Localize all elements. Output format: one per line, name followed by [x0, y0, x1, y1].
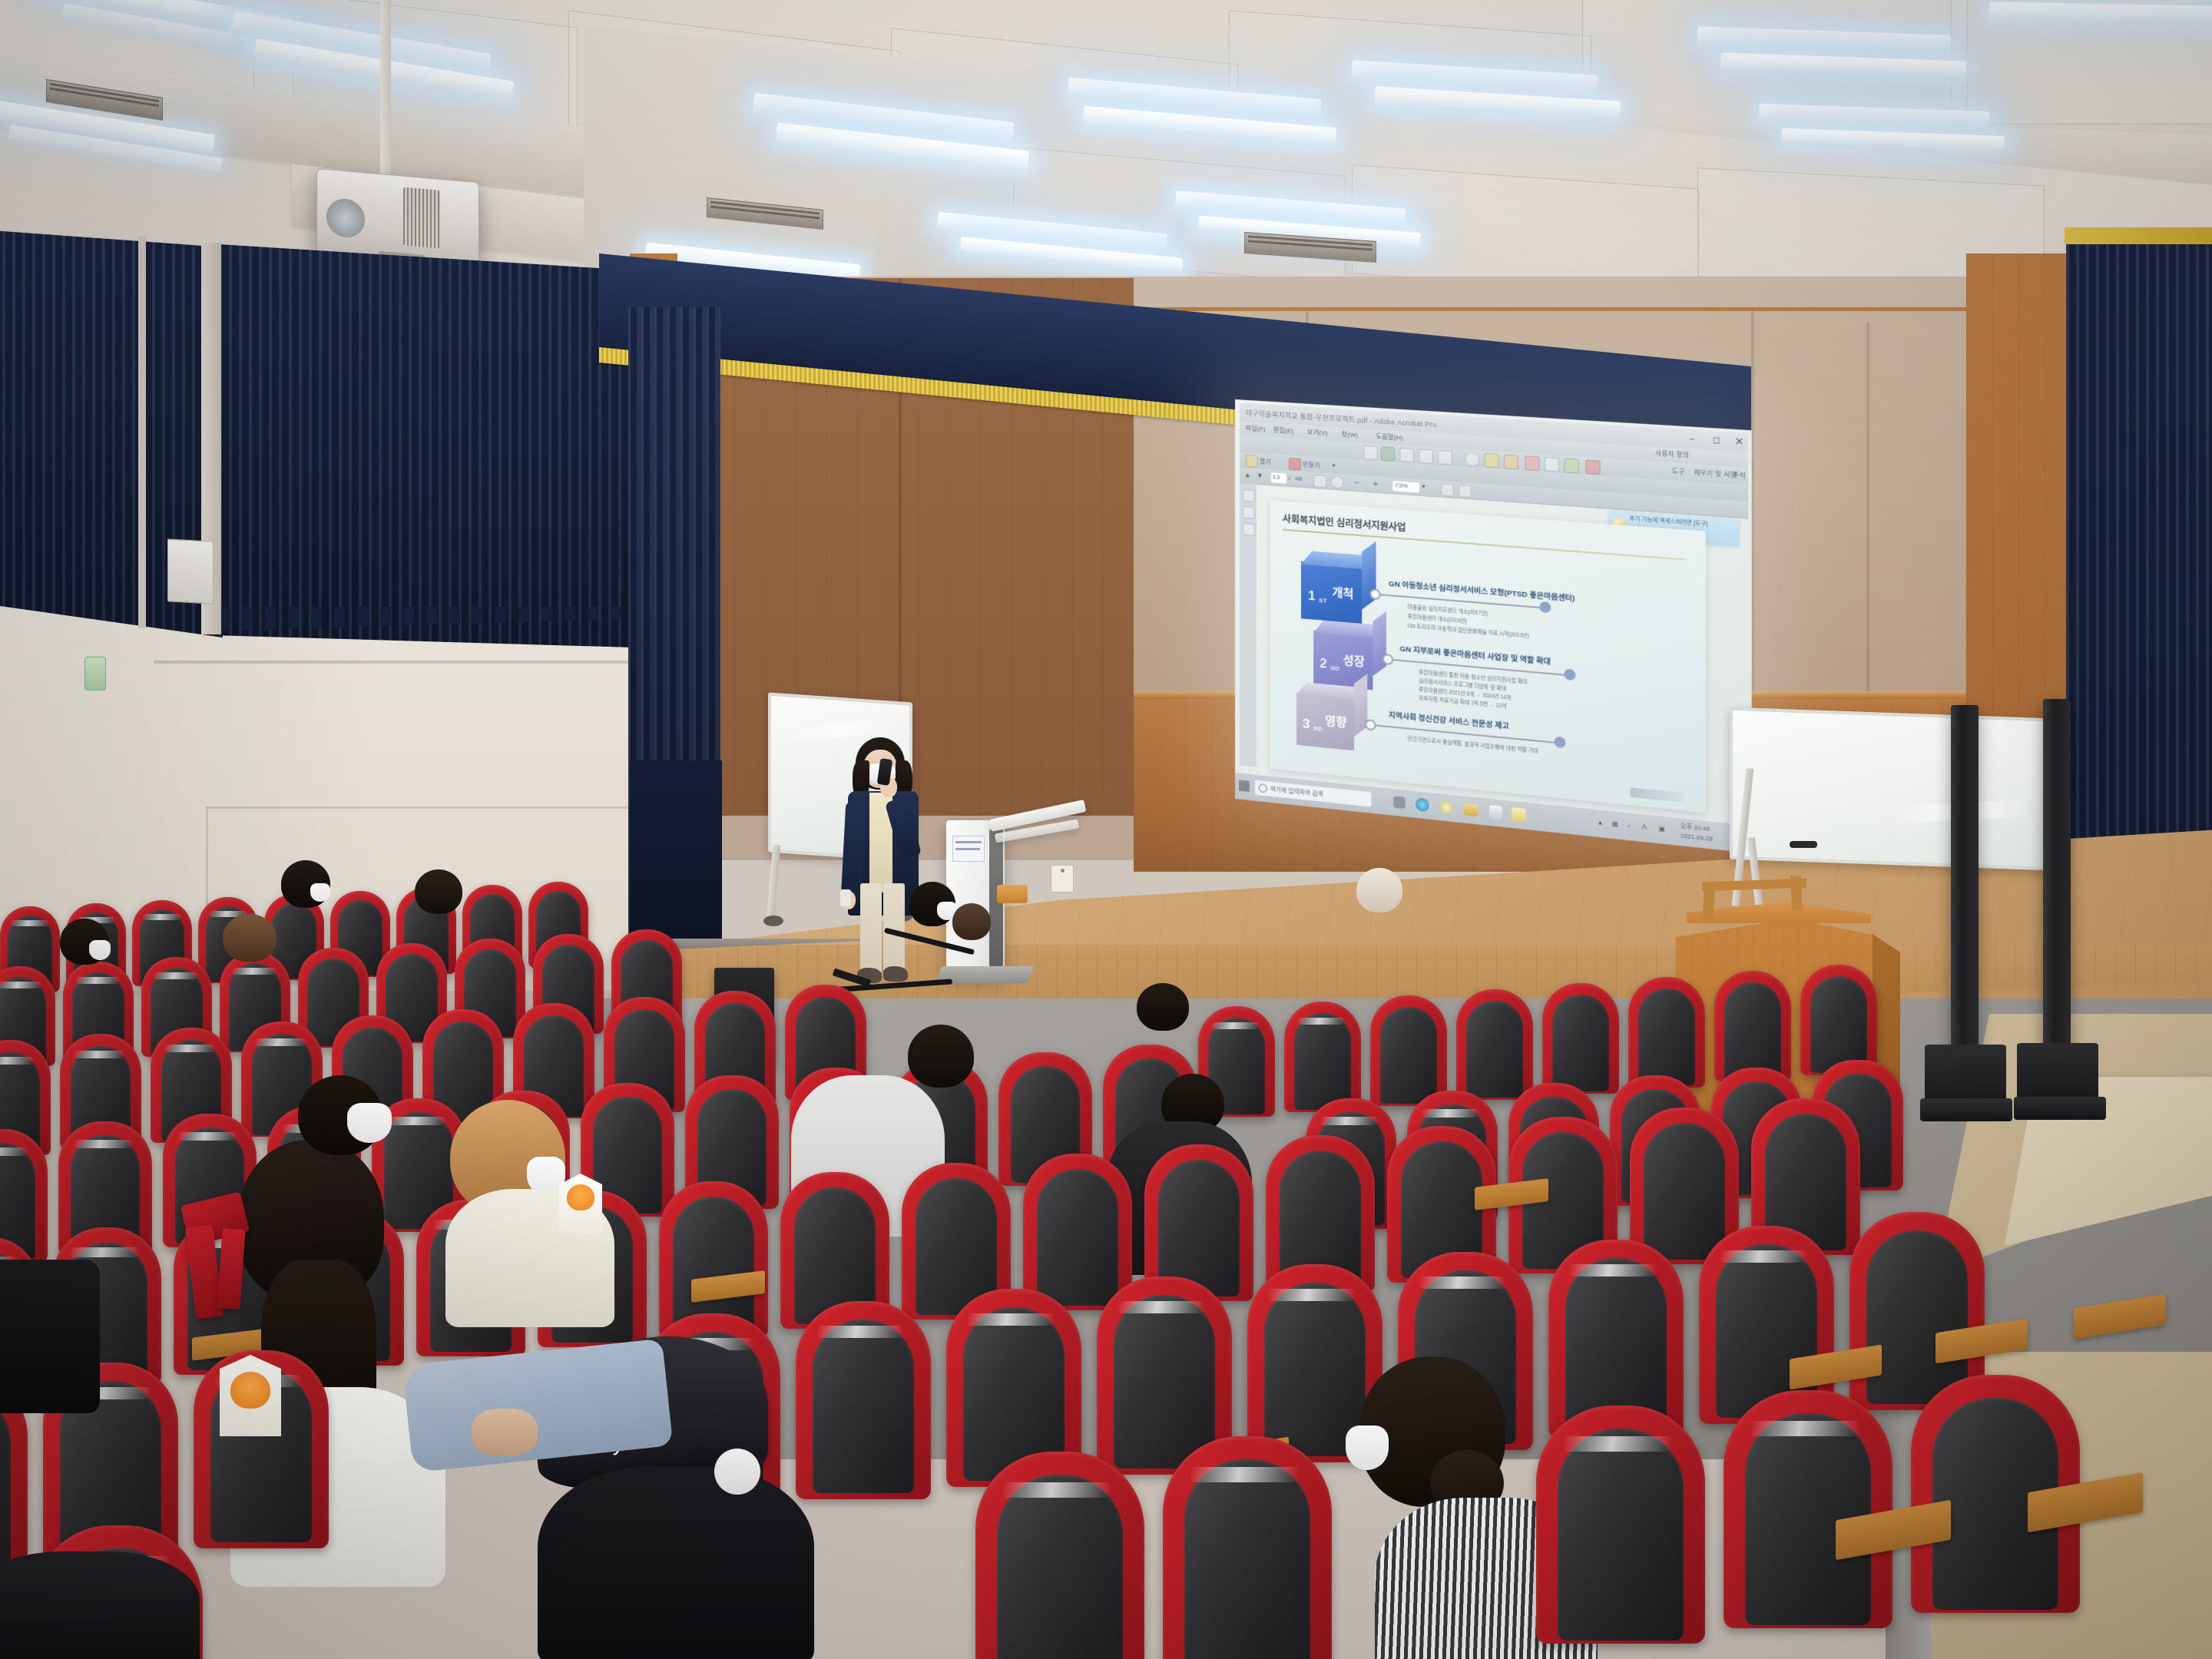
step-2-label: 성장	[1343, 651, 1365, 670]
edge-browser-icon[interactable]	[1416, 797, 1429, 812]
speaker-foot	[1920, 1098, 2012, 1121]
chevron-down-icon[interactable]: ▾	[1422, 483, 1425, 490]
face-mask	[347, 1103, 392, 1143]
audience-body	[0, 1260, 100, 1413]
menu-edit[interactable]: 편집(E)	[1273, 426, 1293, 435]
attachments-icon[interactable]	[1243, 523, 1255, 536]
wall-seam	[207, 806, 637, 809]
seat-tag-card	[559, 1174, 602, 1233]
tray-security-icon[interactable]: ▣	[1658, 825, 1664, 833]
menu-file[interactable]: 파일(F)	[1246, 424, 1266, 434]
task-view-icon[interactable]	[1393, 796, 1405, 809]
file-explorer-icon[interactable]	[1463, 803, 1478, 816]
audience-hand	[472, 1409, 538, 1456]
comment-icon[interactable]	[1504, 454, 1518, 469]
tower-speaker-right	[2043, 699, 2071, 1072]
tray-ime-icon[interactable]: A	[1642, 823, 1647, 831]
step-1-bullet-3: GN 트라우마 아동학대 집단문화예술 치료 시작(2013년)	[1408, 621, 1529, 640]
attach-icon[interactable]	[1585, 459, 1600, 475]
curtain-track-post	[138, 237, 146, 628]
maximize-button[interactable]: ◻	[1713, 435, 1720, 445]
face-mask	[714, 1449, 760, 1495]
connector-node	[1369, 588, 1380, 600]
step-cube-3: 3 RD 영향	[1296, 681, 1371, 755]
tray-chevron-icon[interactable]: ▲	[1597, 819, 1604, 826]
chevron-down-icon[interactable]: ▾	[1332, 462, 1335, 469]
presenter-trousers-left	[860, 883, 882, 972]
wall-speaker	[167, 538, 214, 604]
search-placeholder-text: 여기에 입력하여 검색	[1270, 785, 1323, 799]
tab-comment[interactable]: 주석	[1733, 471, 1746, 481]
wall-sensor	[84, 657, 106, 690]
clock-time[interactable]: 오후 10:49	[1681, 822, 1710, 834]
clock-date[interactable]: 2021-09-28	[1681, 832, 1713, 843]
audience-head	[908, 1025, 974, 1088]
navigation-pane[interactable]	[1240, 482, 1257, 767]
tab-fill-sign[interactable]: 채우기 및 서명	[1694, 468, 1736, 479]
sticky-note-icon[interactable]	[1485, 453, 1499, 469]
wall-outlet	[1051, 865, 1074, 892]
email-icon[interactable]	[1438, 450, 1452, 465]
step-1-label: 개척	[1332, 584, 1353, 602]
step-3-bullet-1: 민간기관으로서 중심역할, 효과적 사업수행에 대한 역할 기대	[1408, 734, 1538, 755]
tray-network-icon[interactable]: ▦	[1612, 820, 1618, 828]
create-button[interactable]: 만들기	[1303, 460, 1320, 470]
projected-desktop: 대구미술복지학교 통합-우천프로젝트.pdf - Adobe Acrobat P…	[1235, 399, 1752, 853]
page-separator: /	[1289, 475, 1290, 482]
connector-end-dot	[1564, 668, 1575, 680]
fit-width-icon[interactable]	[1441, 483, 1454, 497]
presenter-shoe-right	[883, 966, 908, 982]
zoom-out-icon[interactable]: −	[1354, 478, 1359, 488]
audience-head	[223, 914, 276, 962]
highlight-icon[interactable]	[1525, 455, 1539, 471]
speaker-foot	[2014, 1097, 2106, 1120]
search-icon	[1259, 783, 1267, 793]
bookmarks-icon[interactable]	[1243, 506, 1255, 519]
tab-tools[interactable]: 도구	[1672, 467, 1685, 477]
customize-toolbar-label[interactable]: 사용자 정의	[1655, 449, 1689, 459]
step-3-ordinal: RD	[1313, 725, 1323, 733]
save-icon[interactable]	[1363, 445, 1377, 460]
stage-right-whiteboard	[1730, 707, 2051, 871]
face-mask	[310, 883, 330, 902]
stage-box	[997, 885, 1028, 903]
tower-speaker-left	[1951, 705, 1979, 1074]
presenter	[822, 737, 968, 991]
page-down-icon[interactable]: ▼	[1257, 472, 1263, 480]
auditorium-photo: 대구미술복지학교 통합-우천프로젝트.pdf - Adobe Acrobat P…	[0, 0, 2212, 1659]
wall-curtain-left	[219, 244, 634, 647]
zoom-level-value: 73%	[1395, 482, 1408, 489]
signature-icon[interactable]	[1545, 457, 1559, 472]
select-tool-icon[interactable]	[1330, 475, 1343, 488]
step-cube-1: 1 ST 개척	[1301, 551, 1376, 628]
step-1-heading: GN 아동청소년 심리정서서비스 모형(PTSD 좋은마음센터)	[1389, 578, 1575, 604]
step-2-number: 2	[1320, 656, 1327, 672]
tray-volume-icon[interactable]: ♪	[1627, 822, 1630, 829]
face-mask	[1346, 1426, 1389, 1470]
hancom-office-icon[interactable]	[1512, 807, 1525, 822]
slide-footer-logo	[1631, 787, 1684, 803]
connector-node	[1382, 654, 1393, 666]
connector-end-dot	[1555, 736, 1566, 748]
audience-head	[1137, 983, 1189, 1031]
step-2-ordinal: ND	[1330, 664, 1339, 672]
step-1-ordinal: ST	[1319, 597, 1326, 604]
open-button[interactable]: 열기	[1260, 457, 1271, 466]
certify-icon[interactable]	[1564, 458, 1578, 473]
menu-help[interactable]: 도움말(H)	[1376, 432, 1403, 442]
audience-head	[415, 869, 462, 914]
projector-lens	[326, 197, 365, 239]
thumbnails-icon[interactable]	[1243, 489, 1255, 502]
page-total: 48	[1295, 475, 1302, 482]
page-up-icon[interactable]: ▲	[1244, 471, 1251, 479]
wall-seam	[154, 661, 630, 664]
create-pdf-icon[interactable]	[1289, 458, 1301, 471]
acrobat-reader-icon[interactable]	[1489, 805, 1502, 820]
start-button[interactable]	[1239, 780, 1250, 792]
audience-head	[1356, 868, 1402, 912]
whiteboard-caster	[763, 916, 783, 926]
pdf-page: 사회복지법인 심리정서지원사업 1 ST 개척 GN 아동청소년 심리정서서비스…	[1270, 500, 1706, 813]
close-icon[interactable]: ✕	[1734, 435, 1743, 449]
face-mask	[89, 940, 111, 960]
export-icon[interactable]	[1419, 449, 1433, 464]
presenter-remote	[840, 889, 851, 906]
menu-view[interactable]: 보기(V)	[1307, 428, 1328, 438]
wall-seam	[1866, 323, 1869, 691]
cloud-upload-icon[interactable]	[1381, 446, 1395, 462]
open-file-icon[interactable]	[1246, 455, 1258, 468]
page-current: 13	[1273, 473, 1280, 481]
step-3-label: 영향	[1325, 712, 1346, 730]
stamp-icon[interactable]	[1465, 452, 1479, 467]
audience-head	[952, 903, 991, 940]
menu-window[interactable]: 창(W)	[1342, 430, 1358, 439]
zoom-in-icon[interactable]: +	[1373, 479, 1378, 489]
minimize-button[interactable]: −	[1689, 433, 1695, 445]
curtain-fringe-right	[2065, 227, 2212, 244]
hand-tool-icon[interactable]	[1313, 475, 1326, 488]
projection-screen: 대구미술복지학교 통합-우천프로젝트.pdf - Adobe Acrobat P…	[1235, 399, 1752, 853]
whiteboard-marker	[1790, 841, 1817, 848]
connector-node	[1365, 719, 1376, 731]
step-1-number: 1	[1308, 588, 1316, 604]
chrome-browser-icon[interactable]	[1439, 800, 1453, 814]
audience-body	[0, 1551, 200, 1659]
print-icon[interactable]	[1399, 448, 1414, 463]
seat-tag-card	[220, 1355, 281, 1436]
step-3-number: 3	[1303, 716, 1310, 732]
audience-body	[538, 1467, 814, 1659]
projector-vent-grill	[403, 187, 440, 249]
fit-page-icon[interactable]	[1459, 485, 1472, 498]
projector-mount-pole	[380, 0, 391, 184]
connector-end-dot	[1539, 601, 1551, 614]
